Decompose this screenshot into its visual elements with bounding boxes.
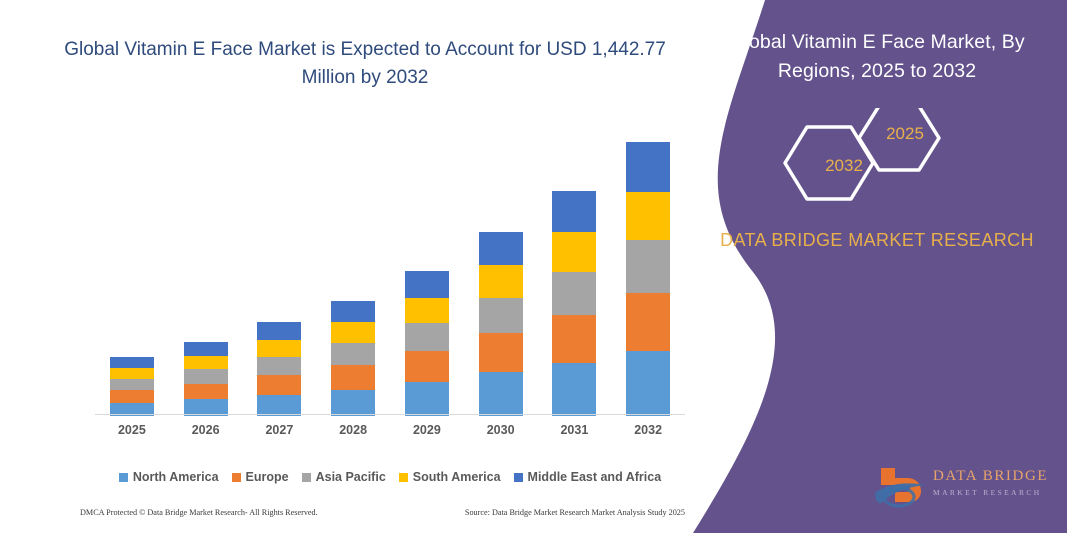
legend-item-europe[interactable]: Europe [232,470,289,484]
x-axis-line [95,414,685,415]
segment-2028-north-america [331,390,375,416]
segment-2030-asia-pacific [479,298,523,333]
legend-swatch-icon [119,473,128,482]
legend-swatch-icon [302,473,311,482]
segment-2027-asia-pacific [257,357,301,375]
legend-label: South America [413,470,501,484]
segment-2031-north-america [552,363,596,416]
bar-2026 [184,342,228,416]
segment-2030-europe [479,333,523,372]
x-label-2031: 2031 [544,423,604,437]
segment-2027-north-america [257,395,301,416]
segment-2028-middle-east-and-africa [331,301,375,322]
legend-swatch-icon [514,473,523,482]
segment-2026-middle-east-and-africa [184,342,228,356]
segment-2032-europe [626,293,670,351]
bar-2031 [552,191,596,416]
legend-label: North America [133,470,219,484]
segment-2030-north-america [479,372,523,416]
bar-2032 [626,142,670,416]
x-label-2026: 2026 [176,423,236,437]
logo-mark-icon [873,462,929,508]
legend-swatch-icon [232,473,241,482]
segment-2032-north-america [626,351,670,416]
segment-2025-south-america [110,368,154,379]
bar-2027 [257,322,301,416]
footer-dmca: DMCA Protected © Data Bridge Market Rese… [80,508,318,517]
hexagon-group: 2025 2032 [767,108,957,218]
segment-2028-asia-pacific [331,343,375,365]
segment-2031-middle-east-and-africa [552,191,596,232]
segment-2026-asia-pacific [184,369,228,383]
segment-2029-middle-east-and-africa [405,271,449,298]
x-label-2030: 2030 [471,423,531,437]
segment-2028-south-america [331,322,375,343]
chart-title: Global Vitamin E Face Market is Expected… [60,36,670,92]
segment-2026-europe [184,384,228,399]
bar-2028 [331,301,375,416]
footer-source: Source: Data Bridge Market Research Mark… [465,508,685,517]
segment-2031-asia-pacific [552,272,596,315]
legend-item-south-america[interactable]: South America [399,470,501,484]
footer: DMCA Protected © Data Bridge Market Rese… [80,508,685,517]
segment-2029-south-america [405,298,449,324]
segment-2029-asia-pacific [405,323,449,351]
logo-subtitle: MARKET RESEARCH [933,488,1057,497]
segment-2031-south-america [552,232,596,272]
x-axis-labels: 20252026202720282029203020312032 [95,423,685,445]
bar-2029 [405,271,449,416]
infographic-page: Global Vitamin E Face Market, By Regions… [0,0,1067,533]
bar-2030 [479,232,523,416]
segment-2025-middle-east-and-africa [110,357,154,368]
legend-item-middle-east-and-africa[interactable]: Middle East and Africa [514,470,662,484]
chart-legend: North AmericaEuropeAsia PacificSouth Ame… [95,470,685,484]
segment-2027-south-america [257,340,301,357]
segment-2032-south-america [626,192,670,241]
x-label-2032: 2032 [618,423,678,437]
segment-2031-europe [552,315,596,363]
segment-2025-europe [110,390,154,402]
segment-2030-south-america [479,265,523,297]
legend-swatch-icon [399,473,408,482]
stacked-bar-chart [95,120,685,416]
segment-2027-europe [257,375,301,395]
panel-title: Global Vitamin E Face Market, By Regions… [717,28,1037,86]
segment-2030-middle-east-and-africa [479,232,523,265]
legend-label: Middle East and Africa [528,470,662,484]
segment-2029-europe [405,351,449,382]
x-label-2029: 2029 [397,423,457,437]
segment-2032-middle-east-and-africa [626,142,670,192]
logo-title: DATA BRIDGE [933,468,1057,485]
x-label-2025: 2025 [102,423,162,437]
bar-2025 [110,357,154,416]
legend-label: Asia Pacific [316,470,386,484]
segment-2028-europe [331,365,375,390]
legend-item-asia-pacific[interactable]: Asia Pacific [302,470,386,484]
x-label-2028: 2028 [323,423,383,437]
data-bridge-logo: DATA BRIDGE MARKET RESEARCH [873,462,1053,510]
legend-item-north-america[interactable]: North America [119,470,219,484]
segment-2029-north-america [405,382,449,416]
legend-label: Europe [246,470,289,484]
segment-2026-south-america [184,356,228,369]
x-label-2027: 2027 [249,423,309,437]
segment-2032-asia-pacific [626,240,670,293]
segment-2027-middle-east-and-africa [257,322,301,339]
segment-2025-asia-pacific [110,379,154,390]
brand-name: DATA BRIDGE MARKET RESEARCH [717,226,1037,254]
